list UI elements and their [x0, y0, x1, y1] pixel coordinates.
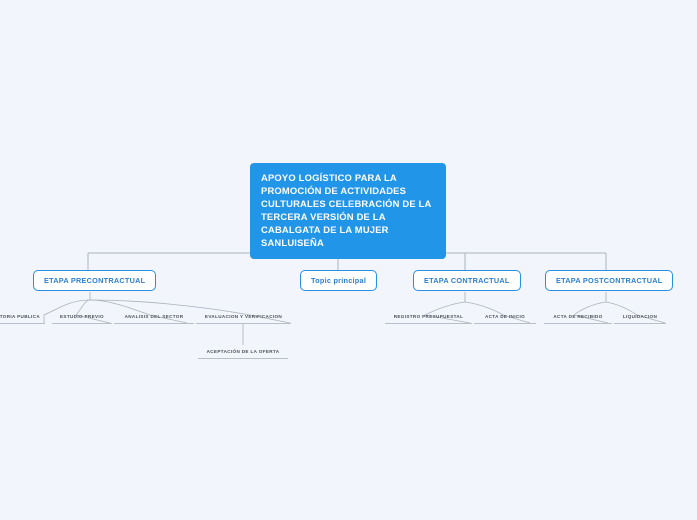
leaf-node-estudio-previo[interactable]: ESTUDIO PREVIO [52, 309, 112, 324]
leaf-node-acta-de-recibido[interactable]: ACTA DE RECIBIDO [544, 309, 612, 324]
branch-node-etapa-contractual[interactable]: ETAPA CONTRACTUAL [413, 270, 521, 291]
leaf-node-liquidacion[interactable]: LIQUIDACION [614, 309, 666, 324]
mindmap-canvas[interactable]: APOYO LOGÍSTICO PARA LA PROMOCIÓN DE ACT… [0, 0, 697, 520]
leaf-node-acta-de-inicio[interactable]: ACTA DE INICIO [474, 309, 536, 324]
branch-node-etapa-precontractual[interactable]: ETAPA PRECONTRACTUAL [33, 270, 156, 291]
leaf-node-registro-presupuestal[interactable]: REGISTRO PRESUPUESTAL [385, 309, 472, 324]
leaf-node-analisis-del-sector[interactable]: ANALISIS DEL SECTOR [114, 309, 194, 324]
branch-node-topic-principal[interactable]: Topic principal [300, 270, 377, 291]
leaf-node-evaluacion-y-verificacion[interactable]: EVALUACION Y VERIFICACION [196, 309, 291, 324]
connector-layer [0, 0, 697, 520]
branch-node-etapa-postcontractual[interactable]: ETAPA POSTCONTRACTUAL [545, 270, 673, 291]
leaf-node-convocatoria-publica[interactable]: CONVOCATORIA PUBLICA [0, 309, 45, 324]
leaf-node-aceptacion-de-la-oferta[interactable]: ACEPTACIÓN DE LA OFERTA [198, 344, 288, 359]
root-node[interactable]: APOYO LOGÍSTICO PARA LA PROMOCIÓN DE ACT… [250, 163, 446, 259]
